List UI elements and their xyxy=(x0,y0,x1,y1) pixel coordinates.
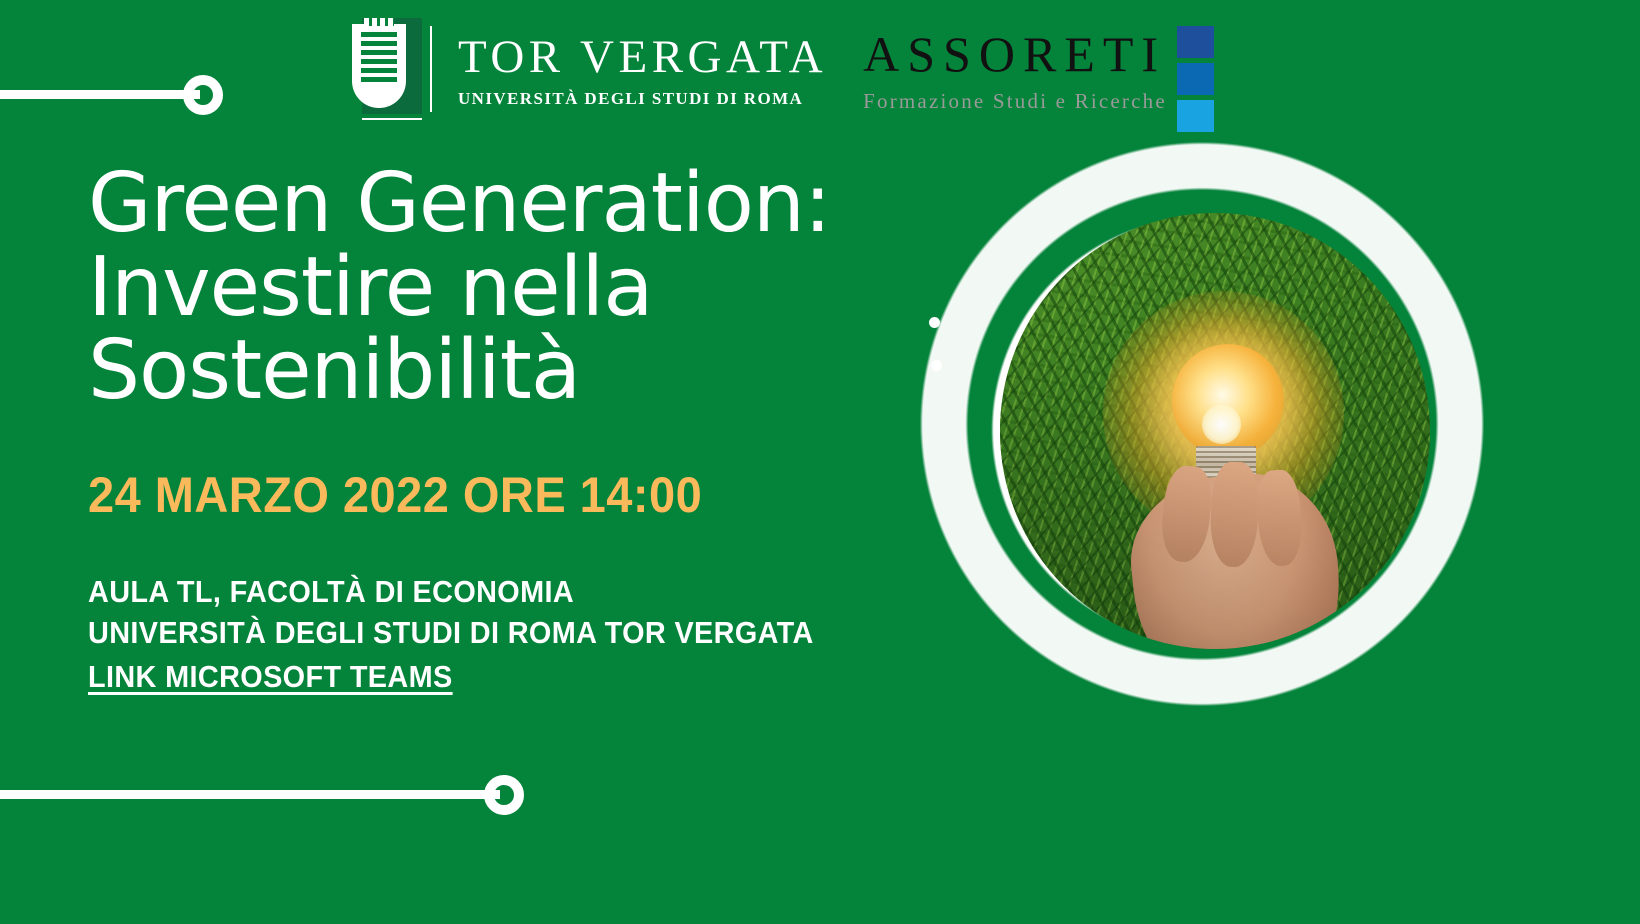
title-line-1: Green Generation: xyxy=(88,162,928,246)
event-venue: AULA TL, FACOLTÀ DI ECONOMIA UNIVERSITÀ … xyxy=(88,572,814,654)
logo-bar: TOR VERGATA UNIVERSITÀ DEGLI STUDI DI RO… xyxy=(352,18,1214,122)
brush-dot-icon xyxy=(931,360,942,371)
square-navy-icon xyxy=(1177,26,1214,58)
bottom-decorative-ring-icon xyxy=(484,775,524,815)
hero-image-frame xyxy=(905,125,1505,735)
tor-vergata-logo: TOR VERGATA UNIVERSITÀ DEGLI STUDI DI RO… xyxy=(352,18,827,122)
lightbulb-grass-photo xyxy=(1000,213,1430,649)
title-line-2: Investire nella xyxy=(88,246,928,330)
assoreti-subtitle: Formazione Studi e Ricerche xyxy=(863,91,1167,112)
assoreti-logo: ASSORETI Formazione Studi e Ricerche xyxy=(863,18,1214,122)
assoreti-squares xyxy=(1177,18,1214,132)
tor-vergata-subtitle: UNIVERSITÀ DEGLI STUDI DI ROMA xyxy=(458,90,827,107)
page-title: Green Generation: Investire nella Sosten… xyxy=(88,162,928,413)
top-decorative-line xyxy=(0,90,200,99)
venue-line-2: UNIVERSITÀ DEGLI STUDI DI ROMA TOR VERGA… xyxy=(88,613,814,654)
photo-vignette xyxy=(1000,213,1430,649)
bottom-decorative-line xyxy=(0,790,500,799)
brush-dot-icon xyxy=(929,317,940,328)
event-datetime: 24 MARZO 2022 ORE 14:00 xyxy=(88,466,702,524)
university-shield-icon xyxy=(352,18,422,122)
top-decorative-ring-icon xyxy=(183,75,223,115)
square-blue-icon xyxy=(1177,63,1214,95)
event-poster: TOR VERGATA UNIVERSITÀ DEGLI STUDI DI RO… xyxy=(0,0,1640,924)
title-line-3: Sostenibilità xyxy=(88,329,928,413)
venue-line-1: AULA TL, FACOLTÀ DI ECONOMIA xyxy=(88,572,814,613)
tor-vergata-name: TOR VERGATA xyxy=(458,34,827,81)
assoreti-name: ASSORETI xyxy=(863,29,1167,79)
microsoft-teams-link[interactable]: LINK MICROSOFT TEAMS xyxy=(88,659,453,695)
